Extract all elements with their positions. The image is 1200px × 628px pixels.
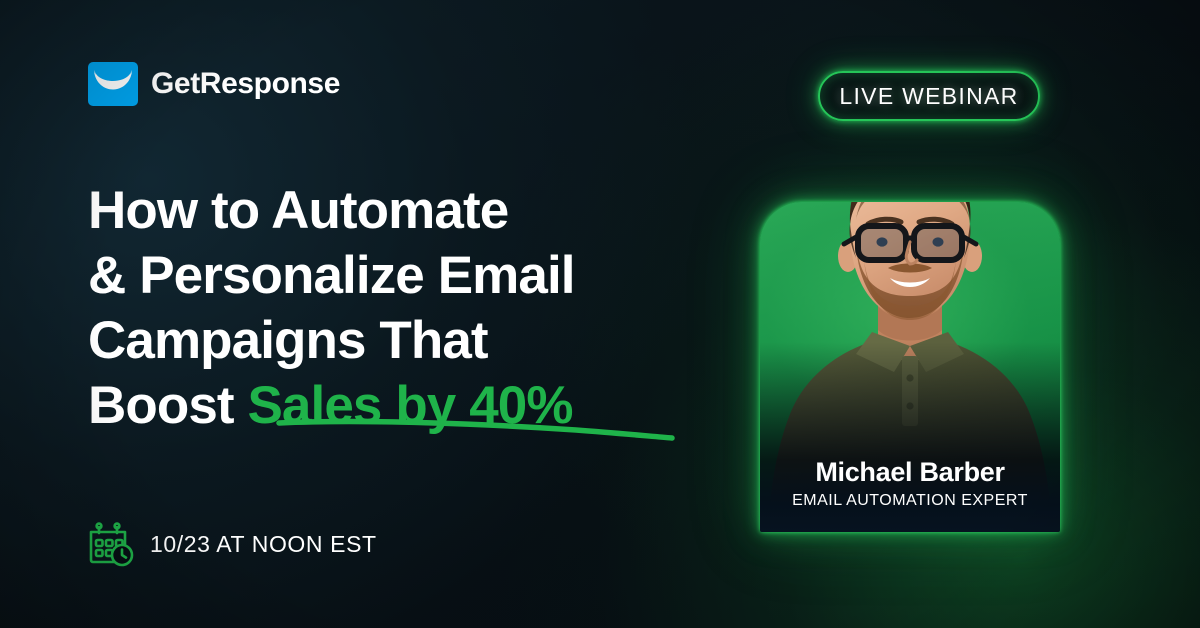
- logo-wordmark: GetResponse: [151, 69, 340, 99]
- headline-line-1: How to Automate: [88, 178, 728, 243]
- headline-line-2: & Personalize Email: [88, 243, 728, 308]
- headline-line-4-plain: Boost: [88, 376, 247, 435]
- webinar-promo-banner: GetResponse LIVE WEBINAR How to Automate…: [0, 0, 1200, 628]
- headline-line-3: Campaigns That: [88, 308, 728, 373]
- headline-line-4: Boost Sales by 40%: [88, 373, 728, 438]
- speaker-name: Michael Barber: [760, 458, 1060, 488]
- schedule-row: 10/23 AT NOON EST: [86, 519, 377, 569]
- live-webinar-label: LIVE WEBINAR: [839, 83, 1018, 110]
- headline-accent-text: Sales by 40%: [247, 376, 572, 435]
- speaker-card: Michael Barber EMAIL AUTOMATION EXPERT: [760, 202, 1060, 532]
- speaker-caption: Michael Barber EMAIL AUTOMATION EXPERT: [760, 458, 1060, 510]
- envelope-smile-icon: [88, 62, 138, 106]
- speaker-role: EMAIL AUTOMATION EXPERT: [760, 492, 1060, 510]
- schedule-text: 10/23 AT NOON EST: [150, 531, 377, 558]
- speaker-card-clip: Michael Barber EMAIL AUTOMATION EXPERT: [760, 202, 1060, 532]
- getresponse-logo[interactable]: GetResponse: [88, 62, 340, 106]
- calendar-clock-icon: [86, 519, 136, 569]
- headline: How to Automate & Personalize Email Camp…: [88, 178, 728, 438]
- live-webinar-badge: LIVE WEBINAR: [818, 71, 1040, 121]
